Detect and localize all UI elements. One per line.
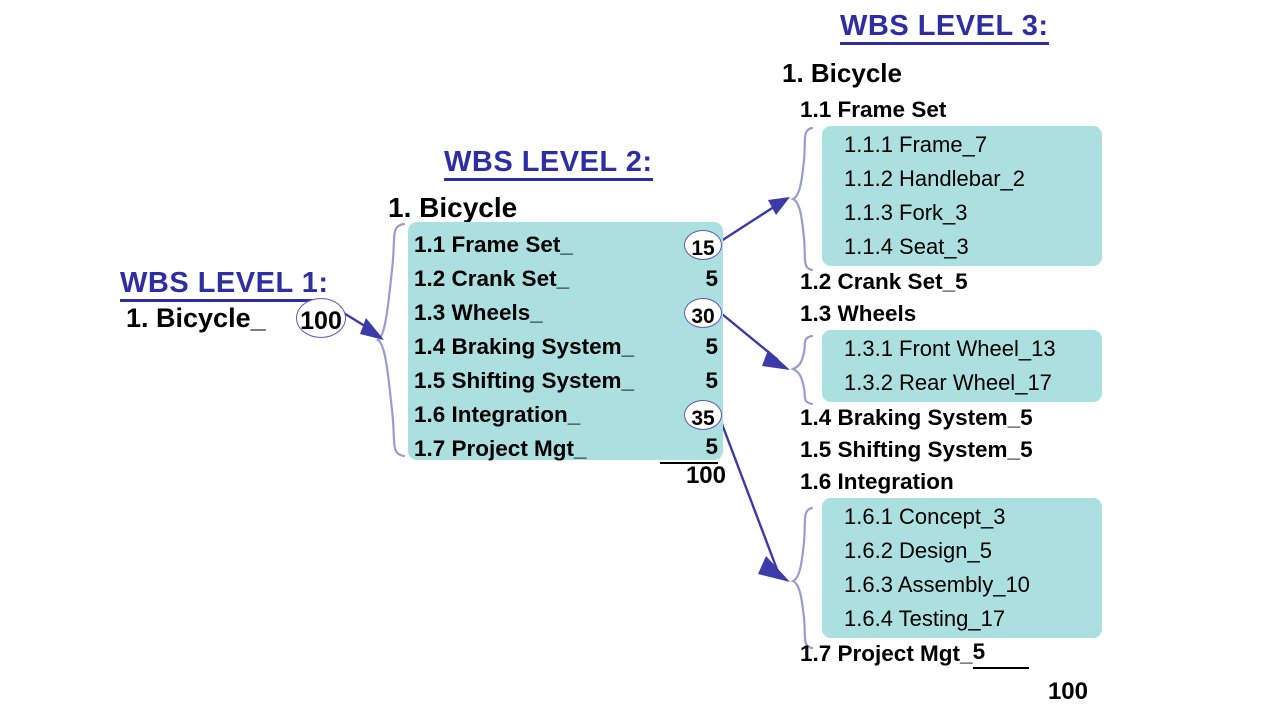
level3-subrow-label: 1.3.2 Rear Wheel_	[844, 370, 1027, 396]
level3-group-header: 1.1 Frame Set	[800, 94, 1102, 126]
arrow-integration-head	[758, 556, 790, 582]
level3-subgroup-box: 1.6.1 Concept_31.6.2 Design_51.6.3 Assem…	[822, 498, 1102, 638]
level2-row-label: 1.7 Project Mgt_	[414, 436, 587, 462]
level3-subrow: 1.3.2 Rear Wheel_17	[822, 366, 1102, 400]
level2-row: 1.6 Integration_35	[414, 398, 724, 432]
level2-circled-value: 30	[684, 298, 722, 328]
level2-row-value: 15	[684, 230, 722, 261]
level3-group-value: 5	[1020, 437, 1076, 463]
level3-group-header: 1.3 Wheels	[800, 298, 1102, 330]
level3-group-value: 5	[955, 269, 1011, 295]
level2-row: 1.3 Wheels_30	[414, 296, 724, 330]
level3-subrow-value: 13	[1031, 336, 1083, 362]
level3-group-label: 1.1 Frame Set	[800, 97, 946, 123]
level3-subrow-value: 5	[980, 538, 1032, 564]
level3-group-label: 1.5 Shifting System_	[800, 437, 1020, 463]
level2-row-value: 5	[660, 334, 718, 360]
level3-subrow: 1.6.1 Concept_3	[822, 500, 1102, 534]
arrow-level1-to-level2-line	[342, 312, 378, 334]
level3-group-header: 1.5 Shifting System_5	[800, 434, 1102, 466]
level3-subrow: 1.6.4 Testing_17	[822, 602, 1102, 636]
level3-subrow-label: 1.6.3 Assembly_	[844, 572, 1005, 598]
wbs-level-1-title: WBS LEVEL 1:	[120, 268, 329, 302]
level3-group-header: 1.6 Integration	[800, 466, 1102, 498]
level3-total-value: 100	[1020, 678, 1088, 706]
level3-subrow-label: 1.6.4 Testing_	[844, 606, 981, 632]
level2-row-list: 1.1 Frame Set_151.2 Crank Set_51.3 Wheel…	[414, 228, 724, 466]
level2-row-value: 5	[660, 266, 718, 292]
level3-subrow-value: 10	[1005, 572, 1057, 598]
level2-row-value: 35	[684, 400, 722, 431]
level3-group-list: 1.1 Frame Set1.1.1 Frame_71.1.2 Handleba…	[800, 94, 1102, 670]
level3-group-value: 5	[1020, 405, 1076, 431]
level2-total-value: 100	[660, 462, 726, 490]
level2-row-value: 30	[684, 298, 722, 329]
level3-subgroup-box: 1.3.1 Front Wheel_131.3.2 Rear Wheel_17	[822, 330, 1102, 402]
level3-group-label: 1.7 Project Mgt_	[800, 641, 973, 667]
level2-row: 1.2 Crank Set_5	[414, 262, 724, 296]
arrow-integration-line	[722, 424, 778, 572]
level3-subrow-label: 1.6.2 Design_	[844, 538, 980, 564]
level2-row: 1.1 Frame Set_15	[414, 228, 724, 262]
level2-row: 1.4 Braking System_5	[414, 330, 724, 364]
level2-row-label: 1.6 Integration_	[414, 402, 580, 428]
level2-circled-value: 35	[684, 400, 722, 430]
level3-subrow-value: 17	[981, 606, 1033, 632]
level3-subrow-value: 3	[957, 234, 1009, 260]
arrow-level1-to-level2-head	[360, 318, 384, 340]
level3-subrow: 1.1.2 Handlebar_2	[822, 162, 1102, 196]
level1-root-row: 1. Bicycle_	[126, 303, 266, 334]
arrow-wheels-line	[722, 314, 778, 360]
level3-subrow-value: 3	[993, 504, 1045, 530]
level3-subrow: 1.1.1 Frame_7	[822, 128, 1102, 162]
level2-row: 1.5 Shifting System_5	[414, 364, 724, 398]
arrow-wheels-head	[762, 350, 790, 370]
level3-group-header: 1.2 Crank Set_5	[800, 266, 1102, 298]
level3-subrow: 1.1.3 Fork_3	[822, 196, 1102, 230]
level3-group-label: 1.6 Integration	[800, 469, 954, 495]
level2-row-label: 1.4 Braking System_	[414, 334, 634, 360]
wbs-level-3-title: WBS LEVEL 3:	[840, 11, 1049, 45]
level3-subrow-value: 7	[975, 132, 1027, 158]
level3-group-label: 1.3 Wheels	[800, 301, 916, 327]
level1-root-label: 1. Bicycle_	[126, 303, 266, 333]
level3-total-block: 100	[1020, 678, 1088, 706]
level2-row-label: 1.1 Frame Set_	[414, 232, 573, 258]
level2-row-value: 5	[660, 368, 718, 394]
level2-root-label: 1. Bicycle	[388, 192, 517, 224]
level3-group-label: 1.4 Braking System_	[800, 405, 1020, 431]
level3-group-value: 5	[973, 639, 1029, 669]
level3-group-label: 1.2 Crank Set_	[800, 269, 955, 295]
level3-subrow-label: 1.1.1 Frame_	[844, 132, 975, 158]
level3-subrow: 1.6.2 Design_5	[822, 534, 1102, 568]
level2-total-block: 100	[660, 462, 726, 490]
level3-subrow: 1.1.4 Seat_3	[822, 230, 1102, 264]
level3-subrow-label: 1.1.3 Fork_	[844, 200, 955, 226]
wbs-level-2-title: WBS LEVEL 2:	[444, 147, 653, 181]
level3-subrow-label: 1.1.4 Seat_	[844, 234, 957, 260]
arrow-frameset-head	[768, 197, 790, 215]
level3-root-label: 1. Bicycle	[782, 58, 902, 89]
arrow-frameset-line	[718, 203, 780, 243]
level2-row-label: 1.3 Wheels_	[414, 300, 543, 326]
level3-subrow-value: 2	[1013, 166, 1065, 192]
level2-row-label: 1.5 Shifting System_	[414, 368, 634, 394]
level3-subrow-value: 17	[1027, 370, 1079, 396]
level2-circled-value: 15	[684, 230, 722, 260]
level2-left-brace	[378, 224, 404, 456]
level3-group-header: 1.7 Project Mgt_5	[800, 638, 1102, 670]
level3-subrow: 1.6.3 Assembly_10	[822, 568, 1102, 602]
level1-root-value: 100	[296, 298, 346, 338]
level2-row: 1.7 Project Mgt_5	[414, 432, 724, 466]
level3-subrow-value: 3	[955, 200, 1007, 226]
level2-row-label: 1.2 Crank Set_	[414, 266, 569, 292]
level3-subrow-label: 1.6.1 Concept_	[844, 504, 993, 530]
level3-subrow-label: 1.1.2 Handlebar_	[844, 166, 1013, 192]
level3-subgroup-box: 1.1.1 Frame_71.1.2 Handlebar_21.1.3 Fork…	[822, 126, 1102, 266]
level3-subrow-label: 1.3.1 Front Wheel_	[844, 336, 1031, 362]
level2-row-value: 5	[660, 434, 718, 464]
level3-subrow: 1.3.1 Front Wheel_13	[822, 332, 1102, 366]
level3-group-header: 1.4 Braking System_5	[800, 402, 1102, 434]
